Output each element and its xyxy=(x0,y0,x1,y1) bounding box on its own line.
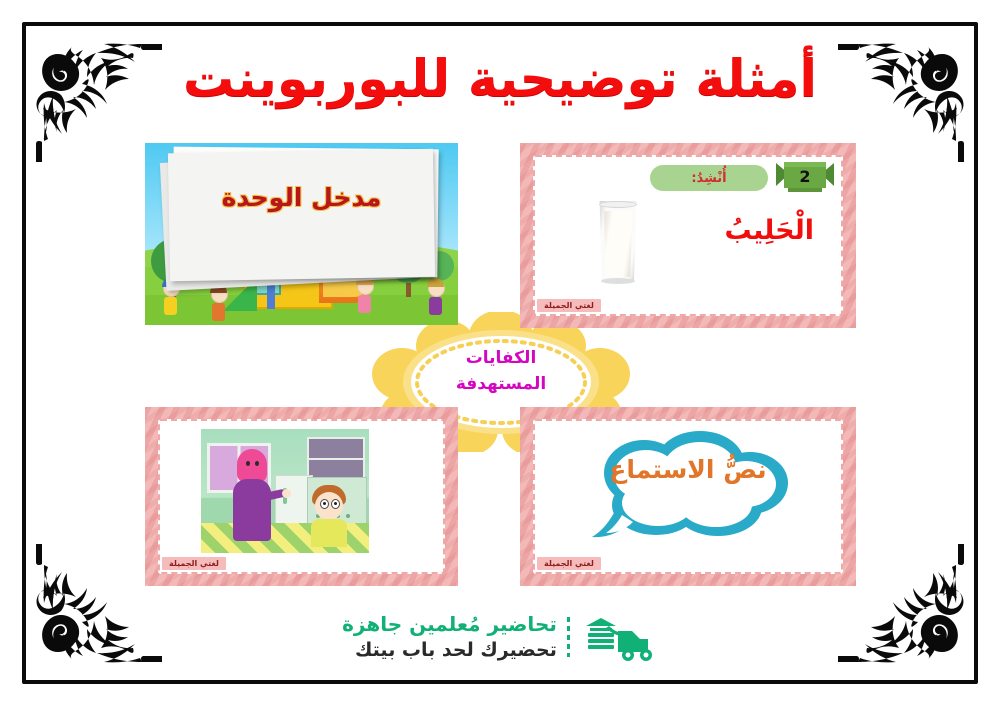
milk-glass-icon xyxy=(598,201,638,281)
competencies-line2: المستهدفة xyxy=(366,372,636,398)
ribbon-number: 2 xyxy=(776,167,834,186)
child-figure xyxy=(211,286,227,321)
kitchen-cabinet xyxy=(307,437,365,479)
sing-label-pill: أُنْشِدُ: xyxy=(650,165,768,191)
delivery-truck-books-graduation-cap-icon xyxy=(580,610,658,664)
slide-kitchen-scene[interactable]: لغتي الجميلة xyxy=(145,407,458,586)
slide-footer-tag: لغتي الجميلة xyxy=(537,299,601,312)
milk-word-text: الْحَلِيبُ xyxy=(725,215,814,246)
boy-figure xyxy=(309,485,349,545)
slide-unit-intro[interactable]: مدخل الوحدة xyxy=(145,143,458,325)
slide-heading-unit-intro: مدخل الوحدة xyxy=(145,183,458,212)
page-title: أمثلة توضيحية للبوربوينت xyxy=(0,50,1000,109)
child-figure xyxy=(357,278,373,313)
slide-sing-milk[interactable]: أُنْشِدُ: 2 الْحَلِيبُ لغتي الجميلة xyxy=(520,143,856,328)
kitchen-illustration xyxy=(201,429,369,553)
brand-text: تحاضير مُعلمين جاهزة تحضيرك لحد باب بيتك xyxy=(342,611,557,664)
speech-cloud-icon xyxy=(582,429,798,553)
listening-text-label: نصُّ الاستماع xyxy=(520,455,856,484)
child-figure xyxy=(428,280,444,315)
target-competencies-text: الكفايات المستهدفة xyxy=(366,346,636,397)
slide-listening-text[interactable]: نصُّ الاستماع لغتي الجميلة xyxy=(520,407,856,586)
brand-footer: تحاضير مُعلمين جاهزة تحضيرك لحد باب بيتك xyxy=(0,610,1000,664)
ribbon-badge: 2 xyxy=(776,160,834,194)
slide-footer-tag: لغتي الجميلة xyxy=(162,557,226,570)
mother-figure xyxy=(229,449,277,541)
brand-line-2: تحضيرك لحد باب بيتك xyxy=(342,638,557,664)
paper-sheet-front xyxy=(168,149,435,282)
brand-line-1: تحاضير مُعلمين جاهزة xyxy=(342,611,557,638)
slide-footer-tag: لغتي الجميلة xyxy=(537,557,601,570)
poster-page: أمثلة توضيحية للبوربوينت الكفايات المسته… xyxy=(0,0,1000,706)
brand-divider xyxy=(567,617,570,657)
competencies-line1: الكفايات xyxy=(366,346,636,372)
